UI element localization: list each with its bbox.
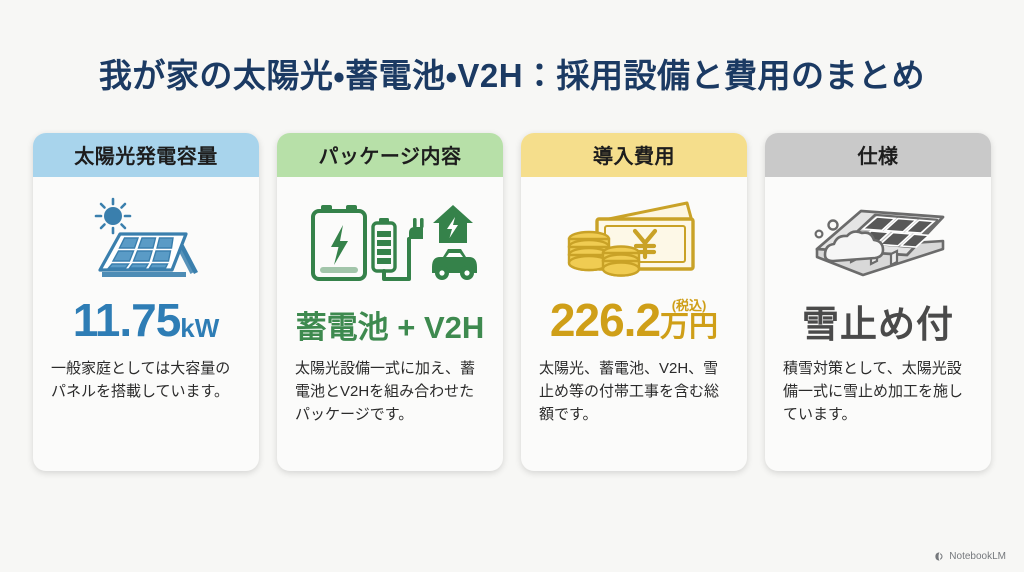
card-header-package: パッケージ内容 [277,133,503,177]
card-body-spec: 雪止め付 積雪対策として、太陽光設備一式に雪止め加工を施しています。 [765,177,991,471]
watermark: NotebookLM [934,551,1006,562]
value-package: 蓄電池 + V2H [293,293,487,343]
card-body-solar-capacity: 11.75kW 一般家庭としては大容量のパネルを搭載しています。 [33,177,259,471]
value-number: 226.2 [550,297,660,343]
card-description-solar-capacity: 一般家庭としては大容量のパネルを搭載しています。 [49,357,243,404]
watermark-label: NotebookLM [949,551,1006,562]
card-body-cost: 226.2 (税込) 万円 太陽光、蓄電池、V2H、雪止め等の付帯工事を含む総額… [521,177,747,471]
value-unit-group: (税込) 万円 [660,299,718,343]
card-cost[interactable]: 導入費用 [521,133,747,471]
tax-note: (税込) [672,299,707,312]
money-yen-coins-icon [537,193,731,289]
value-number: 11.75 [73,297,181,343]
value-cost: 226.2 (税込) 万円 [537,293,731,343]
value-solar-capacity: 11.75kW [49,293,243,343]
card-header-spec: 仕様 [765,133,991,177]
card-row: 太陽光発電容量 [32,133,992,471]
card-header-cost: 導入費用 [521,133,747,177]
snow-guard-panel-icon [781,193,975,289]
slide-root: 我が家の太陽光・蓄電池・V2H：採用設備と費用のまとめ 太陽光発電容量 [0,0,1024,572]
value-text: 雪止め付 [802,306,954,343]
card-description-package: 太陽光設備一式に加え、蓄電池とV2Hを組み合わせたパッケージです。 [293,357,487,427]
value-spec: 雪止め付 [781,293,975,343]
battery-ev-house-icon [293,193,487,289]
value-unit: 万円 [660,313,718,343]
title-area: 我が家の太陽光・蓄電池・V2H：採用設備と費用のまとめ [0,56,1024,96]
card-package[interactable]: パッケージ内容 [277,133,503,471]
page-title: 我が家の太陽光・蓄電池・V2H：採用設備と費用のまとめ [0,56,1024,96]
card-description-spec: 積雪対策として、太陽光設備一式に雪止め加工を施しています。 [781,357,975,427]
card-header-solar-capacity: 太陽光発電容量 [33,133,259,177]
value-text: 蓄電池 + V2H [296,312,485,343]
card-body-package: 蓄電池 + V2H 太陽光設備一式に加え、蓄電池とV2Hを組み合わせたパッケージ… [277,177,503,471]
card-description-cost: 太陽光、蓄電池、V2H、雪止め等の付帯工事を含む総額です。 [537,357,731,427]
card-solar-capacity[interactable]: 太陽光発電容量 [33,133,259,471]
value-unit: kW [180,315,219,343]
notebooklm-logo-icon [934,551,945,562]
solar-panel-sun-icon [49,193,243,289]
card-spec[interactable]: 仕様 [765,133,991,471]
